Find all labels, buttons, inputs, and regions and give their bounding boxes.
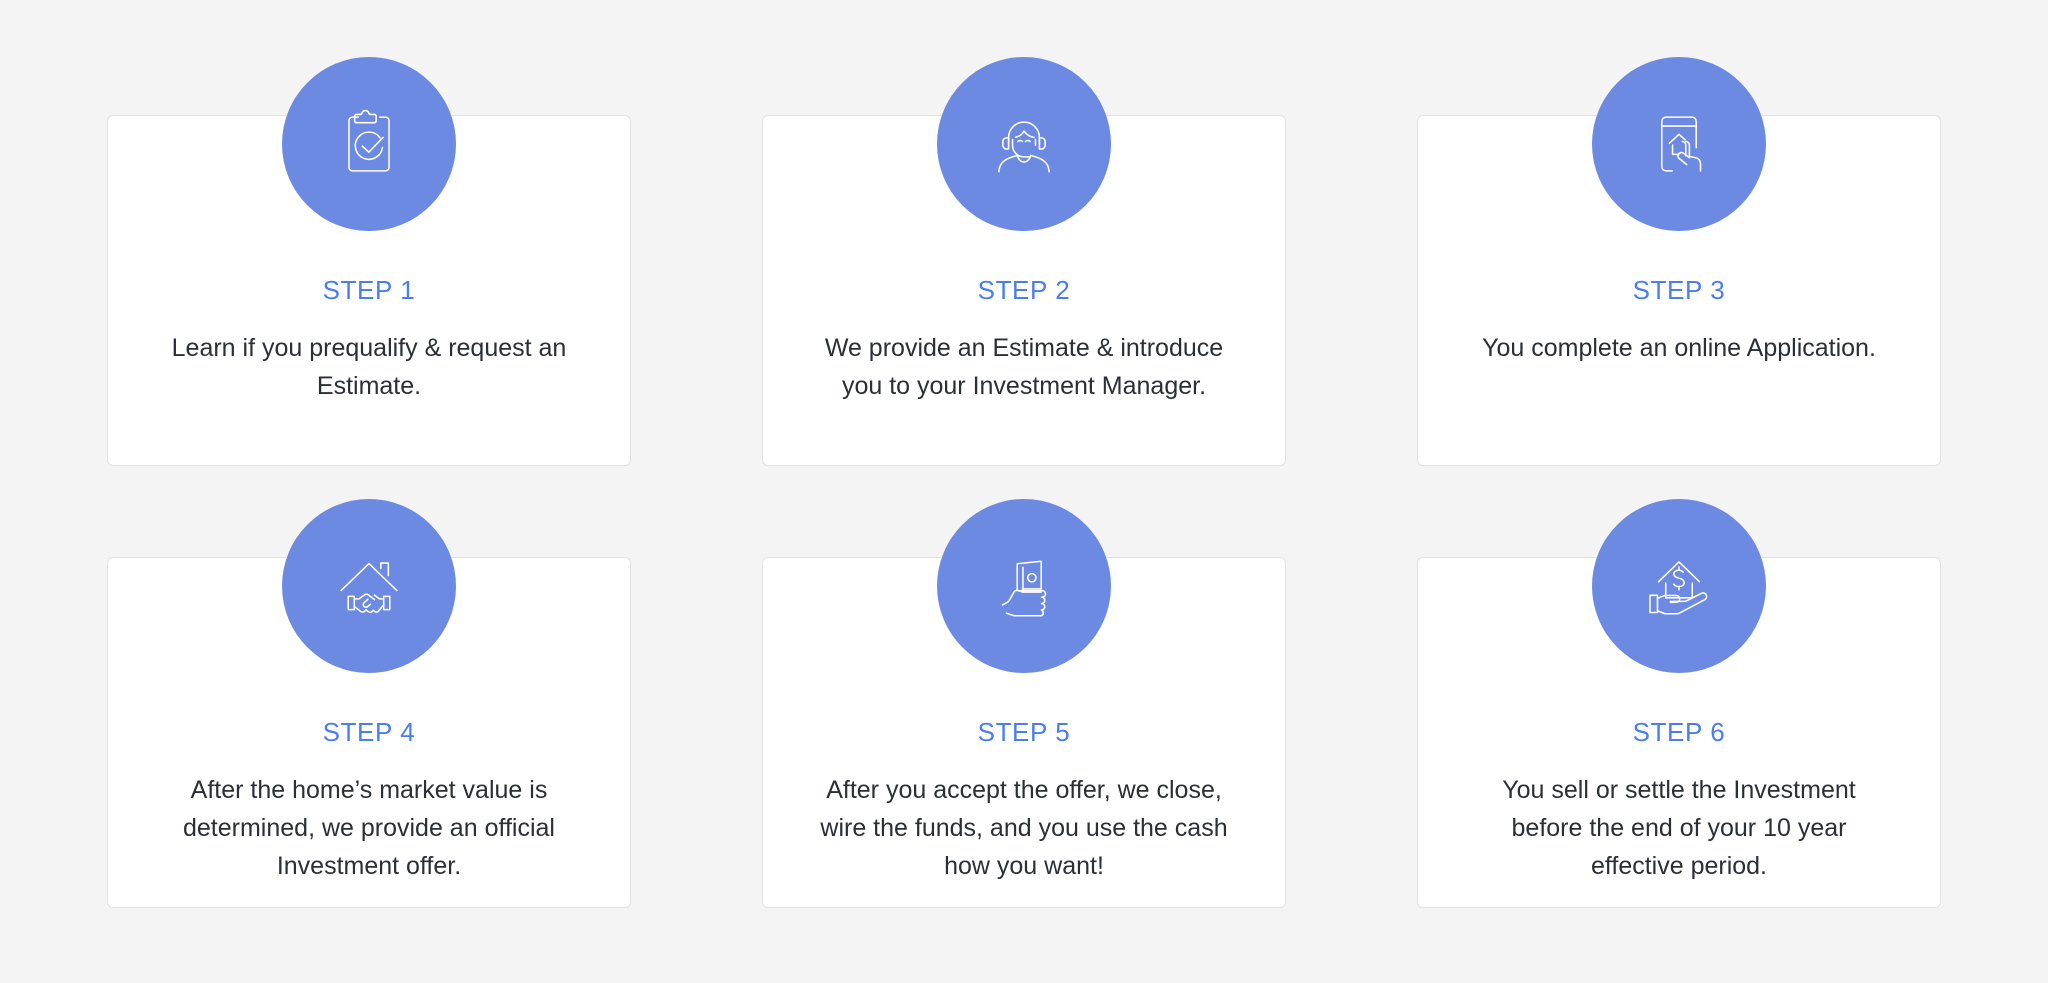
step-description: After the home’s market value is determi… xyxy=(163,771,575,885)
clipboard-check-icon xyxy=(282,57,456,231)
house-handshake-icon xyxy=(282,499,456,673)
step-card-5[interactable]: STEP 5 After you accept the offer, we cl… xyxy=(762,557,1286,908)
step-description: You sell or settle the Investment before… xyxy=(1473,771,1885,885)
step-description: We provide an Estimate & introduce you t… xyxy=(818,329,1230,405)
hand-holding-house-dollar-icon xyxy=(1592,499,1766,673)
step-card-6[interactable]: STEP 6 You sell or settle the Investment… xyxy=(1417,557,1941,908)
step-label: STEP 6 xyxy=(1633,719,1726,745)
step-description: You complete an online Application. xyxy=(1473,329,1885,367)
support-agent-headset-icon xyxy=(937,57,1111,231)
hand-holding-cash-icon xyxy=(937,499,1111,673)
steps-grid: STEP 1 Learn if you prequalify & request… xyxy=(107,115,1941,908)
step-description: Learn if you prequalify & request an Est… xyxy=(163,329,575,405)
step-label: STEP 1 xyxy=(323,277,416,303)
step-card-1[interactable]: STEP 1 Learn if you prequalify & request… xyxy=(107,115,631,466)
phone-house-tap-icon xyxy=(1592,57,1766,231)
step-card-4[interactable]: STEP 4 After the home’s market value is … xyxy=(107,557,631,908)
step-label: STEP 4 xyxy=(323,719,416,745)
step-label: STEP 2 xyxy=(978,277,1071,303)
step-description: After you accept the offer, we close, wi… xyxy=(818,771,1230,885)
step-label: STEP 3 xyxy=(1633,277,1726,303)
step-card-3[interactable]: STEP 3 You complete an online Applicatio… xyxy=(1417,115,1941,466)
step-label: STEP 5 xyxy=(978,719,1071,745)
step-card-2[interactable]: STEP 2 We provide an Estimate & introduc… xyxy=(762,115,1286,466)
